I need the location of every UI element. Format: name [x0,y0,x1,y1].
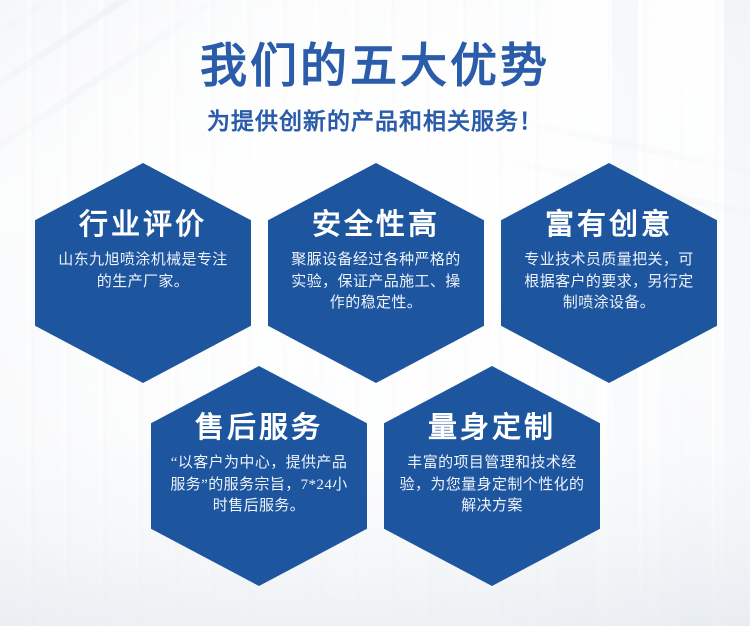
advantage-desc: 丰富的项目管理和技术经验，为您量身定制个性化的解决方案 [397,453,587,517]
advantage-desc: 山东九旭喷涂机械是专注的生产厂家。 [53,250,233,293]
advantage-desc: “以客户为中心，提供产品服务”的服务宗旨，7*24小时售后服务。 [164,453,354,517]
page-subtitle: 为提供创新的产品和相关服务！ [0,109,750,137]
advantages-banner: 我们的五大优势 为提供创新的产品和相关服务！ 行业评价 山东九旭喷涂机械是专注的… [0,0,750,626]
advantage-title: 售后服务 [195,412,323,444]
advantage-title: 量身定制 [428,412,556,444]
advantage-title: 富有创意 [545,209,673,241]
banner-headings: 我们的五大优势 为提供创新的产品和相关服务！ [0,40,750,136]
advantage-title: 安全性高 [312,209,440,241]
advantage-title: 行业评价 [79,209,207,241]
advantage-desc: 专业技术员质量把关，可根据客户的要求，另行定制喷涂设备。 [519,250,699,314]
page-title: 我们的五大优势 [0,40,750,95]
advantage-desc: 聚脲设备经过各种严格的实验，保证产品施工、操作的稳定性。 [286,250,466,314]
